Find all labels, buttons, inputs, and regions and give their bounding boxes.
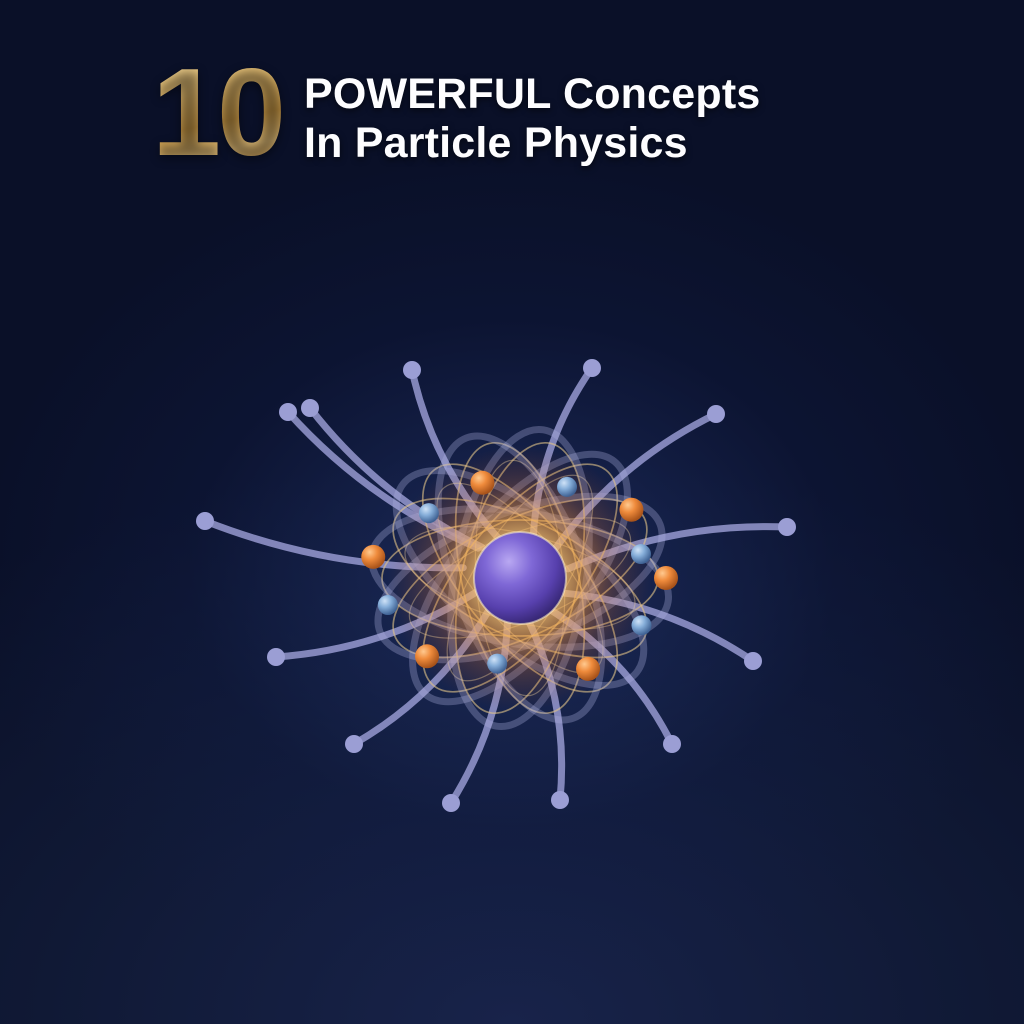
- connector-line: [547, 608, 672, 744]
- electrons: [361, 471, 678, 681]
- electron: [557, 477, 577, 497]
- connector-endpoint: [707, 405, 725, 423]
- electron: [654, 566, 678, 590]
- page-title-line1: POWERFUL Concepts: [304, 70, 761, 119]
- electron: [361, 545, 385, 569]
- connector-endpoint: [403, 361, 421, 379]
- infographic-canvas: 10 POWERFUL Concepts In Particle Physics: [0, 0, 1024, 1024]
- page-title-text: POWERFUL Concepts In Particle Physics: [304, 52, 761, 168]
- connector-line: [451, 619, 508, 804]
- electron: [631, 544, 651, 564]
- connector-line: [288, 412, 478, 548]
- connector-line: [412, 370, 501, 541]
- page-title-number: 10: [152, 52, 282, 170]
- electron: [576, 657, 600, 681]
- page-title-line2: In Particle Physics: [304, 119, 761, 168]
- connector-line: [276, 592, 476, 657]
- electron-orbits: [356, 414, 683, 741]
- connector-line: [527, 618, 561, 800]
- electron: [619, 498, 643, 522]
- connector-line: [310, 408, 482, 547]
- connector-line: [533, 368, 592, 540]
- nucleus: [474, 532, 566, 624]
- electron: [378, 595, 398, 615]
- electron: [419, 503, 439, 523]
- connector-endpoint: [442, 794, 460, 812]
- connector-line: [205, 521, 463, 568]
- electron: [470, 471, 494, 495]
- connector-line: [568, 527, 787, 569]
- connector-endpoint: [301, 399, 319, 417]
- connector-endpoint: [583, 359, 601, 377]
- connector-endpoint: [196, 512, 214, 530]
- electron: [631, 615, 651, 635]
- connector-line: [562, 593, 753, 661]
- connector-endpoint: [663, 735, 681, 753]
- electron: [487, 654, 507, 674]
- connector-line: [354, 608, 490, 744]
- connector-endpoint: [778, 518, 796, 536]
- connector-endpoint: [267, 648, 285, 666]
- connector-endpoint: [345, 735, 363, 753]
- connector-line: [555, 414, 716, 548]
- connector-endpoint: [744, 652, 762, 670]
- connector-endpoint: [279, 403, 297, 421]
- connector-endpoint: [551, 791, 569, 809]
- title-block: 10 POWERFUL Concepts In Particle Physics: [152, 52, 912, 170]
- electron: [415, 644, 439, 668]
